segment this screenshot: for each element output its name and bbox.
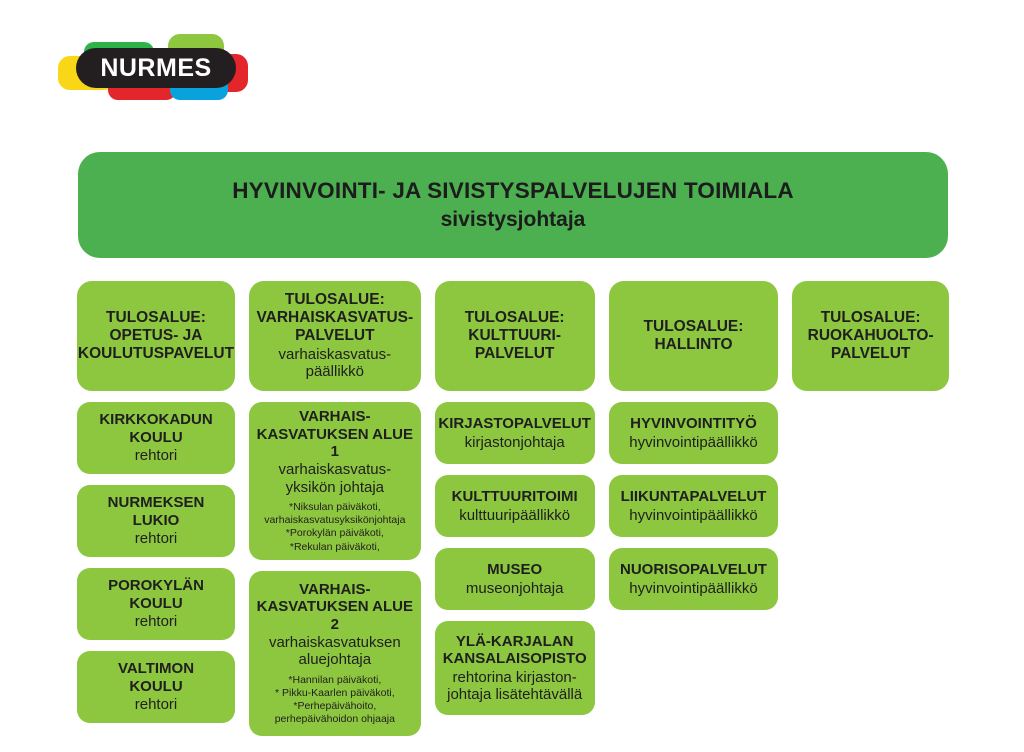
node-role: rehtori xyxy=(135,530,178,547)
node-title: HYVINVOINTITYÖ xyxy=(630,415,757,432)
node-kirkkokadun-koulu[interactable]: KIRKKOKADUN KOULU rehtori xyxy=(77,402,235,474)
logo-nameplate: NURMES xyxy=(76,48,236,88)
node-role: kulttuuripäällikkö xyxy=(459,507,570,524)
node-title: TULOSALUE: VARHAISKASVATUS- PALVELUT xyxy=(256,291,413,345)
node-varhaiskasvatus-alue-2[interactable]: VARHAIS- KASVATUKSEN ALUE 2 varhaiskasva… xyxy=(249,571,421,736)
node-title: LIIKUNTAPALVELUT xyxy=(621,488,767,505)
node-valtimon-koulu[interactable]: VALTIMON KOULU rehtori xyxy=(77,651,235,723)
node-title: VARHAIS- KASVATUKSEN ALUE 1 xyxy=(256,408,414,460)
org-column-varhaiskasvatus: TULOSALUE: VARHAISKASVATUS- PALVELUT var… xyxy=(249,281,421,736)
node-museo[interactable]: MUSEO museonjohtaja xyxy=(435,548,595,610)
org-column-ruokahuolto: TULOSALUE: RUOKAHUOLTO- PALVELUT xyxy=(792,281,949,736)
node-role: kirjastonjohtaja xyxy=(465,434,565,451)
node-nuorisopalvelut[interactable]: NUORISOPALVELUT hyvinvointipäällikkö xyxy=(609,548,779,610)
logo-wordmark: NURMES xyxy=(100,54,211,83)
node-nurmeksen-lukio[interactable]: NURMEKSEN LUKIO rehtori xyxy=(77,485,235,557)
org-column-kulttuuri: TULOSALUE: KULTTUURI- PALVELUT KIRJASTOP… xyxy=(435,281,595,736)
node-title: NURMEKSEN LUKIO xyxy=(108,494,205,529)
tulosalue-head-varhaiskasvatus[interactable]: TULOSALUE: VARHAISKASVATUS- PALVELUT var… xyxy=(249,281,421,391)
node-porokylan-koulu[interactable]: POROKYLÄN KOULU rehtori xyxy=(77,568,235,640)
node-role: hyvinvointipäällikkö xyxy=(629,507,757,524)
tulosalue-head-hallinto[interactable]: TULOSALUE: HALLINTO xyxy=(609,281,779,391)
node-kirjastopalvelut[interactable]: KIRJASTOPALVELUT kirjastonjohtaja xyxy=(435,402,595,464)
node-role: rehtorina kirjaston- johtaja lisätehtävä… xyxy=(447,669,582,704)
node-detail: *Hannilan päiväkoti, * Pikku-Kaarlen päi… xyxy=(275,674,395,727)
node-title: KIRKKOKADUN KOULU xyxy=(99,411,212,446)
node-title: KIRJASTOPALVELUT xyxy=(438,415,591,432)
node-role: rehtori xyxy=(135,696,178,713)
tulosalue-head-ruokahuolto[interactable]: TULOSALUE: RUOKAHUOLTO- PALVELUT xyxy=(792,281,949,391)
node-title: TULOSALUE: KULTTUURI- PALVELUT xyxy=(465,309,565,363)
toimiala-header-banner: HYVINVOINTI- JA SIVISTYSPALVELUJEN TOIMI… xyxy=(78,152,948,258)
node-role: varhaiskasvatuksen aluejohtaja xyxy=(269,634,401,669)
node-role: varhaiskasvatus- päällikkö xyxy=(279,346,392,381)
node-hyvinvointityo[interactable]: HYVINVOINTITYÖ hyvinvointipäällikkö xyxy=(609,402,779,464)
node-title: TULOSALUE: OPETUS- JA KOULUTUSPAVELUT xyxy=(78,309,234,363)
node-title: KULTTUURITOIMI xyxy=(452,488,578,505)
node-role: museonjohtaja xyxy=(466,580,564,597)
nurmes-logo: NURMES xyxy=(58,34,258,102)
node-detail: *Niksulan päiväkoti, varhaiskasvatusyksi… xyxy=(264,501,405,554)
node-title: MUSEO xyxy=(487,561,542,578)
node-title: TULOSALUE: HALLINTO xyxy=(644,318,744,354)
org-column-opetus: TULOSALUE: OPETUS- JA KOULUTUSPAVELUT KI… xyxy=(77,281,235,736)
node-role: rehtori xyxy=(135,447,178,464)
org-chart: TULOSALUE: OPETUS- JA KOULUTUSPAVELUT KI… xyxy=(77,281,949,736)
tulosalue-head-kulttuuri[interactable]: TULOSALUE: KULTTUURI- PALVELUT xyxy=(435,281,595,391)
node-role: hyvinvointipäällikkö xyxy=(629,580,757,597)
node-yla-karjalan-kansalaisopisto[interactable]: YLÄ-KARJALAN KANSALAISOPISTO rehtorina k… xyxy=(435,621,595,715)
tulosalue-head-opetus[interactable]: TULOSALUE: OPETUS- JA KOULUTUSPAVELUT xyxy=(77,281,235,391)
node-title: TULOSALUE: RUOKAHUOLTO- PALVELUT xyxy=(808,309,934,363)
node-liikuntapalvelut[interactable]: LIIKUNTAPALVELUT hyvinvointipäällikkö xyxy=(609,475,779,537)
node-kulttuuritoimi[interactable]: KULTTUURITOIMI kulttuuripäällikkö xyxy=(435,475,595,537)
node-title: NUORISOPALVELUT xyxy=(620,561,767,578)
org-column-hallinto: TULOSALUE: HALLINTO HYVINVOINTITYÖ hyvin… xyxy=(609,281,779,736)
node-role: hyvinvointipäällikkö xyxy=(629,434,757,451)
node-title: VARHAIS- KASVATUKSEN ALUE 2 xyxy=(256,581,414,633)
node-title: POROKYLÄN KOULU xyxy=(108,577,204,612)
page-subtitle: sivistysjohtaja xyxy=(441,207,586,233)
node-title: YLÄ-KARJALAN KANSALAISOPISTO xyxy=(443,633,587,668)
node-varhaiskasvatus-alue-1[interactable]: VARHAIS- KASVATUKSEN ALUE 1 varhaiskasva… xyxy=(249,402,421,560)
page-title: HYVINVOINTI- JA SIVISTYSPALVELUJEN TOIMI… xyxy=(232,177,794,205)
node-role: rehtori xyxy=(135,613,178,630)
node-title: VALTIMON KOULU xyxy=(118,660,194,695)
node-role: varhaiskasvatus- yksikön johtaja xyxy=(279,461,392,496)
